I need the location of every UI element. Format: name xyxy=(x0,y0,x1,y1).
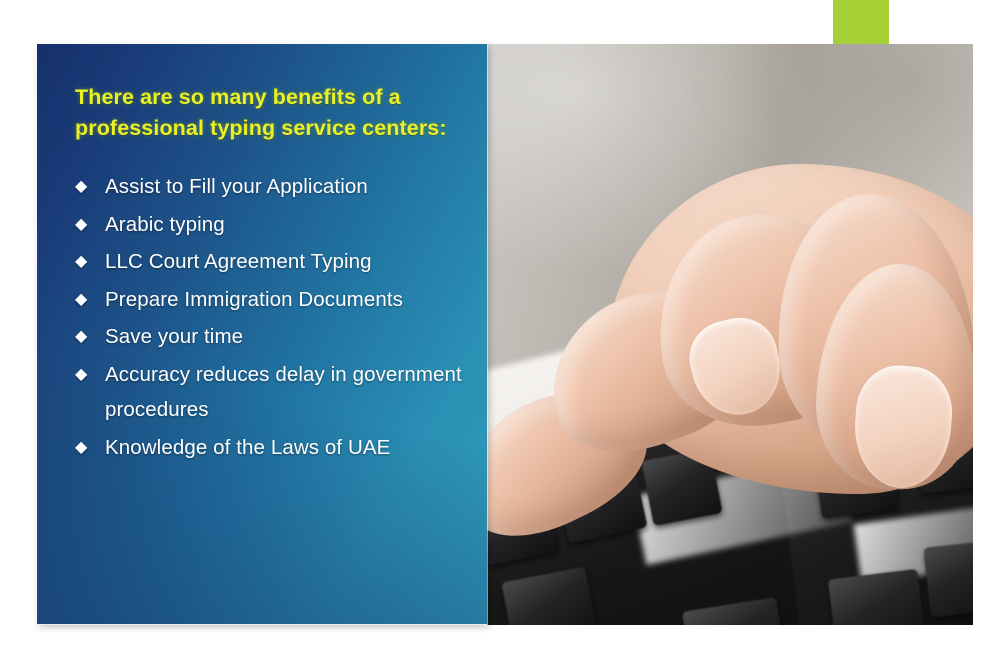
list-item: ◆ LLC Court Agreement Typing xyxy=(75,244,473,280)
list-item-label: Knowledge of the Laws of UAE xyxy=(105,430,390,466)
green-accent-bar xyxy=(833,0,889,47)
list-item-label: LLC Court Agreement Typing xyxy=(105,244,372,280)
slide-title: There are so many benefits of a professi… xyxy=(75,82,457,143)
list-item: ◆ Knowledge of the Laws of UAE xyxy=(75,430,473,466)
slide-canvas: There are so many benefits of a professi… xyxy=(0,0,1000,650)
diamond-bullet-icon: ◆ xyxy=(75,207,105,243)
diamond-bullet-icon: ◆ xyxy=(75,169,105,205)
diamond-bullet-icon: ◆ xyxy=(75,282,105,318)
list-item: ◆ Prepare Immigration Documents xyxy=(75,282,473,318)
photo-keycap xyxy=(828,569,926,625)
diamond-bullet-icon: ◆ xyxy=(75,244,105,280)
hand-typing-photo xyxy=(487,44,973,625)
photo-keycap xyxy=(924,541,973,618)
diamond-bullet-icon: ◆ xyxy=(75,430,105,466)
list-item: ◆ Save your time xyxy=(75,319,473,355)
benefits-list: ◆ Assist to Fill your Application ◆ Arab… xyxy=(75,169,473,465)
list-item-label: Accuracy reduces delay in government pro… xyxy=(105,357,473,428)
list-item: ◆ Accuracy reduces delay in government p… xyxy=(75,357,473,428)
diamond-bullet-icon: ◆ xyxy=(75,357,105,393)
panel-body: There are so many benefits of a professi… xyxy=(37,44,487,465)
list-item-label: Save your time xyxy=(105,319,243,355)
list-item: ◆ Arabic typing xyxy=(75,207,473,243)
diamond-bullet-icon: ◆ xyxy=(75,319,105,355)
list-item-label: Prepare Immigration Documents xyxy=(105,282,403,318)
list-item: ◆ Assist to Fill your Application xyxy=(75,169,473,205)
list-item-label: Arabic typing xyxy=(105,207,225,243)
list-item-label: Assist to Fill your Application xyxy=(105,169,368,205)
content-panel: There are so many benefits of a professi… xyxy=(37,44,487,624)
